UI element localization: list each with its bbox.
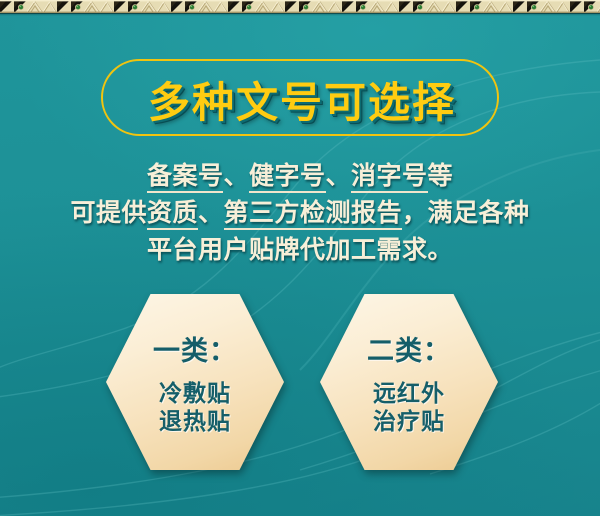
hexagon-item: 远红外 [373,380,445,408]
body-segment: 可提供 [70,200,147,227]
title-frame: 多种文号可选择 [101,59,499,136]
body-segment: ，满足各种 [402,200,530,227]
hexagon-heading: 二类： [367,329,451,368]
hexagon-heading: 一类： [153,329,237,368]
page-title: 多种文号可选择 [103,61,501,138]
body-segment-underlined: 健字号 [249,163,326,193]
body-segment-underlined: 消字号 [351,163,428,193]
body-line-2: 可提供资质、第三方检测报告，满足各种 [0,195,600,232]
hexagon-content: 一类： 冷敷贴 退热贴 [106,294,284,470]
body-segment-underlined: 备案号 [147,163,224,193]
body-line-1: 备案号、健字号、消字号等 [0,158,600,195]
hexagon-item: 退热贴 [159,408,231,436]
body-segment: 、 [223,163,249,190]
body-segment: 、 [326,163,352,190]
body-segment: 、 [198,200,224,227]
hexagon-content: 二类： 远红外 治疗贴 [320,294,498,470]
promo-poster: 多种文号可选择 备案号、健字号、消字号等 可提供资质、第三方检测报告，满足各种 … [0,0,600,516]
hexagon-items: 冷敷贴 退热贴 [159,380,231,436]
top-border-shadow [0,13,600,16]
hexagon-category-two: 二类： 远红外 治疗贴 [320,294,498,470]
hexagon-items: 远红外 治疗贴 [373,380,445,436]
body-segment-underlined: 资质 [147,200,198,230]
body-segment-underlined: 第三方检测报告 [224,200,403,230]
body-copy: 备案号、健字号、消字号等 可提供资质、第三方检测报告，满足各种 平台用户贴牌代加… [0,158,600,269]
body-line-3: 平台用户贴牌代加工需求。 [0,232,600,269]
hexagon-item: 治疗贴 [373,408,445,436]
body-segment: 等 [428,163,454,190]
hexagon-item: 冷敷贴 [159,380,231,408]
ornamental-top-border [0,0,600,13]
body-segment: 平台用户贴牌代加工需求。 [147,237,453,264]
hexagon-category-one: 一类： 冷敷贴 退热贴 [106,294,284,470]
